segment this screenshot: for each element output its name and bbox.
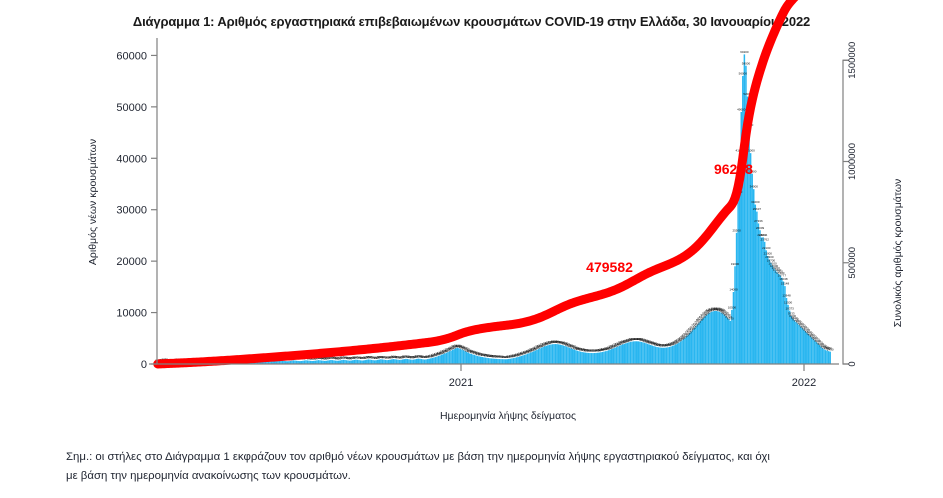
bar	[764, 242, 766, 364]
bar	[566, 347, 568, 364]
x-axis-title: Ημερομηνία λήψης δείγματος	[440, 410, 576, 422]
bar-value-label: 14000	[729, 288, 738, 292]
chart-svg: 2102603003403804203603303002803203604004…	[0, 0, 943, 440]
bar	[592, 353, 594, 364]
bar	[530, 353, 532, 364]
bar	[709, 313, 711, 364]
bar	[458, 348, 460, 364]
bar	[608, 350, 610, 364]
bar	[603, 352, 605, 364]
bar	[742, 76, 744, 364]
bar	[659, 348, 661, 364]
bar	[527, 354, 529, 364]
bar	[681, 340, 683, 364]
bar	[762, 237, 764, 364]
bar	[808, 334, 810, 364]
bar	[486, 358, 488, 364]
footnote-line-2: με βάση την ημερομηνία ανακοίνωσης των κ…	[66, 467, 938, 486]
bar	[549, 345, 551, 364]
cumulative-annotation: 479582	[586, 259, 633, 275]
bar	[719, 312, 721, 364]
bar	[712, 311, 714, 364]
bar-value-label: 29637	[753, 207, 762, 211]
bar	[625, 343, 627, 364]
bar	[377, 360, 379, 364]
bar	[734, 266, 736, 364]
bar	[555, 344, 557, 364]
bar-value-label: 23762	[761, 237, 770, 241]
bar	[678, 343, 680, 364]
bar	[642, 342, 644, 364]
bar	[382, 359, 384, 364]
bar	[475, 356, 477, 364]
bar	[447, 352, 449, 364]
bar	[511, 358, 513, 364]
bar	[722, 314, 724, 365]
bar	[516, 357, 518, 364]
bar	[563, 345, 565, 364]
bar	[714, 311, 716, 364]
bar	[446, 353, 448, 364]
y-tick-label: 40000	[116, 153, 147, 165]
bar	[686, 336, 688, 364]
bar	[728, 319, 730, 364]
x-tick-label: 2021	[449, 377, 473, 389]
bar	[780, 276, 782, 364]
bar	[663, 348, 665, 364]
bar	[556, 344, 558, 364]
y-tick-label: 0	[141, 359, 147, 371]
bar	[599, 353, 601, 364]
bar	[669, 347, 671, 364]
bar	[422, 359, 424, 364]
bar	[488, 358, 490, 364]
y2-tick-label: 0	[847, 361, 858, 366]
bar	[545, 346, 547, 364]
bar	[723, 315, 725, 364]
bar-value-label: 25500	[732, 228, 741, 232]
bar	[413, 360, 415, 364]
bar-value-label: 58000	[742, 61, 751, 65]
y2-tick-label: 500000	[847, 247, 858, 279]
bar	[452, 350, 454, 364]
bar	[389, 360, 391, 364]
bar	[391, 359, 393, 364]
bar	[466, 352, 468, 364]
y-tick-label: 20000	[116, 256, 147, 268]
bar	[368, 359, 370, 364]
bar	[672, 346, 674, 364]
bar	[600, 352, 602, 364]
bar	[825, 350, 827, 364]
bar	[471, 354, 473, 364]
figure-container: Διάγραμμα 1: Αριθμός εργαστηριακά επιβεβ…	[0, 0, 943, 498]
bar	[591, 353, 593, 364]
bar	[823, 349, 825, 364]
bar	[667, 347, 669, 364]
bar	[477, 356, 479, 364]
bar	[772, 266, 774, 364]
bar	[506, 359, 508, 364]
bar	[711, 312, 713, 364]
bar	[355, 360, 357, 364]
bar	[469, 353, 471, 364]
bar	[400, 360, 402, 364]
bar	[761, 237, 763, 364]
bar	[503, 359, 505, 364]
bar	[380, 359, 382, 364]
bar	[427, 359, 429, 364]
bar	[733, 292, 735, 364]
bar	[645, 343, 647, 364]
bar	[798, 325, 800, 364]
bar	[617, 346, 619, 364]
bar	[480, 357, 482, 364]
bar-value-label: 8390	[727, 316, 734, 320]
bar	[624, 344, 626, 364]
bar-value-label: 22100	[762, 246, 771, 250]
bar	[485, 358, 487, 364]
bar	[393, 359, 395, 364]
bar	[510, 359, 512, 364]
bar	[616, 347, 618, 364]
bar	[638, 341, 640, 364]
bar	[677, 344, 679, 364]
bar	[826, 351, 828, 364]
bar	[652, 346, 654, 364]
bar	[408, 359, 410, 364]
bar	[717, 311, 719, 364]
bar	[550, 345, 552, 364]
bar	[644, 343, 646, 364]
bar	[521, 356, 523, 364]
bar	[357, 360, 359, 364]
bar	[829, 352, 831, 364]
bar	[595, 353, 597, 364]
bar	[613, 348, 615, 364]
bar	[794, 320, 796, 364]
bar	[806, 333, 808, 364]
bar	[441, 355, 443, 364]
bar	[702, 319, 704, 364]
bar	[558, 344, 560, 364]
bar	[758, 223, 760, 364]
bar	[461, 350, 463, 364]
bar	[726, 318, 728, 364]
bar	[594, 353, 596, 364]
bar	[666, 348, 668, 364]
bar	[574, 350, 576, 364]
bar	[673, 345, 675, 364]
bar	[517, 357, 519, 364]
bar	[597, 353, 599, 364]
bar	[502, 359, 504, 364]
bar	[404, 359, 406, 364]
bar	[569, 348, 571, 364]
bar	[636, 341, 638, 364]
bar	[491, 358, 493, 364]
cumulative-annotation: 96288	[714, 161, 753, 177]
bar	[792, 318, 794, 364]
bar	[656, 347, 658, 364]
bar	[680, 342, 682, 364]
bar	[533, 351, 535, 364]
bar	[683, 339, 685, 364]
bar	[822, 348, 824, 364]
bar	[700, 321, 702, 364]
bar	[627, 343, 629, 364]
bar	[492, 359, 494, 364]
bar-value-label: 26009	[756, 226, 765, 230]
bar	[605, 351, 607, 364]
bar	[433, 358, 435, 364]
bar-value-label: 12848	[782, 294, 791, 298]
bar	[781, 278, 783, 364]
bar	[767, 256, 769, 364]
bar	[694, 328, 696, 364]
bar	[463, 350, 465, 364]
bar	[800, 326, 802, 364]
bar	[577, 351, 579, 364]
bar	[497, 359, 499, 364]
bar	[414, 359, 416, 364]
bar	[770, 263, 772, 364]
bar	[450, 351, 452, 364]
y-tick-label: 30000	[116, 205, 147, 217]
bar	[720, 313, 722, 364]
bar-value-label: 34000	[750, 185, 759, 189]
y2-axis-bracket	[843, 60, 849, 364]
bar	[687, 335, 689, 364]
bar-value-label: 11500	[784, 300, 792, 304]
bar	[428, 359, 430, 364]
bar-value-label: 10500	[728, 306, 737, 310]
bar	[432, 358, 434, 364]
bar	[430, 358, 432, 364]
bar	[790, 316, 792, 364]
bar	[778, 274, 780, 364]
bar	[803, 330, 805, 364]
bar	[482, 357, 484, 364]
bar-value-label: 31000	[751, 200, 760, 204]
bar	[575, 350, 577, 364]
bar	[500, 359, 502, 364]
bar	[544, 346, 546, 364]
bar	[467, 353, 469, 364]
bar	[695, 326, 697, 364]
bar	[647, 344, 649, 364]
bar	[630, 342, 632, 364]
bar	[460, 349, 462, 364]
bar	[583, 352, 585, 364]
bar	[759, 230, 761, 364]
bar	[801, 328, 803, 364]
bar	[539, 348, 541, 364]
bar	[606, 351, 608, 364]
bar	[464, 351, 466, 364]
bar	[505, 359, 507, 364]
bar	[453, 349, 455, 364]
bar	[538, 349, 540, 364]
bar	[609, 350, 611, 364]
bar-value-label: 10373	[785, 306, 794, 310]
bar	[496, 359, 498, 364]
bar-value-label: 27336	[754, 219, 763, 223]
plot-area-wrapper: 2102603003403804203603303002803203604004…	[0, 0, 943, 440]
bar	[494, 359, 496, 364]
bar-value-label: 19000	[731, 262, 740, 266]
bar	[343, 360, 345, 364]
bar	[535, 351, 537, 364]
y2-tick-label: 1500000	[847, 42, 858, 79]
bar	[661, 348, 663, 364]
bar	[547, 345, 549, 364]
bar	[542, 347, 544, 364]
bar	[522, 355, 524, 364]
y-axis-title: Αριθμός νέων κρουσμάτων	[87, 139, 99, 265]
bar	[628, 342, 630, 364]
bar	[765, 250, 767, 364]
bar	[567, 347, 569, 364]
bar	[572, 349, 574, 364]
bar	[697, 324, 699, 364]
bar	[581, 352, 583, 364]
bar	[438, 356, 440, 364]
bar	[675, 344, 677, 364]
bar	[622, 344, 624, 364]
annotation-group: 479582962881920992	[586, 0, 867, 275]
bar	[753, 189, 755, 364]
bar	[769, 260, 771, 364]
bar	[474, 355, 476, 364]
bar	[407, 359, 409, 364]
x-tick-label: 2022	[792, 377, 816, 389]
bar	[483, 357, 485, 364]
axes-group: 0100002000030000400005000060000050000010…	[87, 38, 904, 422]
bar	[744, 54, 746, 364]
bar-value-label: 60200	[740, 50, 749, 54]
y-tick-label: 60000	[116, 50, 147, 62]
bar	[354, 360, 356, 364]
bar	[658, 347, 660, 364]
bar	[416, 359, 418, 364]
bar	[514, 358, 516, 364]
bar	[725, 316, 727, 364]
bar	[580, 352, 582, 364]
bar	[570, 348, 572, 364]
bar	[670, 346, 672, 364]
bar	[553, 344, 555, 364]
bar	[405, 359, 407, 364]
bar	[620, 345, 622, 364]
bar	[330, 360, 332, 364]
bar	[655, 347, 657, 364]
bar	[418, 359, 420, 364]
bar-value-label: 24634	[759, 233, 768, 237]
bar	[424, 360, 426, 364]
bar	[650, 345, 652, 364]
bar	[366, 360, 368, 364]
bar	[421, 359, 423, 364]
bar	[716, 311, 718, 364]
bar	[388, 360, 390, 364]
bar	[578, 351, 580, 364]
bar	[435, 357, 437, 364]
bar	[653, 346, 655, 364]
bar	[684, 338, 686, 364]
bar	[560, 345, 562, 364]
bar	[784, 286, 786, 364]
bar	[648, 344, 650, 364]
bar	[664, 348, 666, 364]
bar	[706, 315, 708, 364]
bar	[797, 323, 799, 364]
bar	[708, 314, 710, 365]
bar	[385, 360, 387, 364]
bar	[525, 354, 527, 364]
bar	[641, 342, 643, 364]
bar	[397, 360, 399, 364]
bar	[584, 353, 586, 364]
bar	[444, 353, 446, 364]
bar-value-label: 16048	[779, 277, 788, 281]
bar	[457, 348, 459, 364]
bar	[369, 360, 371, 364]
bar	[541, 348, 543, 364]
bar	[705, 316, 707, 364]
bar	[776, 272, 778, 364]
bar	[524, 355, 526, 364]
bar	[371, 360, 373, 364]
bar	[634, 341, 636, 364]
bar	[379, 360, 381, 364]
bar	[399, 360, 401, 364]
bar-value-label: 15148	[781, 282, 790, 286]
bar	[410, 360, 412, 364]
bar	[691, 331, 693, 364]
bar	[698, 323, 700, 364]
bar	[619, 346, 621, 364]
bar	[396, 359, 398, 364]
bar	[528, 353, 530, 364]
footnote: Σημ.: οι στήλες στο Διάγραμμα 1 εκφράζου…	[66, 448, 938, 486]
bar	[602, 352, 604, 364]
bar	[411, 360, 413, 364]
bar	[425, 359, 427, 364]
bar	[499, 359, 501, 364]
bar	[455, 348, 457, 364]
bar	[795, 322, 797, 364]
bar	[736, 233, 738, 364]
bar	[564, 346, 566, 364]
bar	[614, 348, 616, 364]
bar	[489, 358, 491, 364]
bar	[443, 354, 445, 364]
bar	[689, 333, 691, 364]
bar	[586, 353, 588, 364]
bar	[804, 331, 806, 364]
bar	[703, 318, 705, 364]
bar	[639, 342, 641, 364]
y2-tick-label: 1000000	[847, 143, 858, 180]
bar	[513, 358, 515, 364]
bar	[383, 360, 385, 364]
bar	[394, 359, 396, 364]
bar	[828, 351, 830, 364]
bar	[439, 355, 441, 364]
bar	[508, 359, 510, 364]
bar-value-label: 49000	[737, 108, 746, 112]
